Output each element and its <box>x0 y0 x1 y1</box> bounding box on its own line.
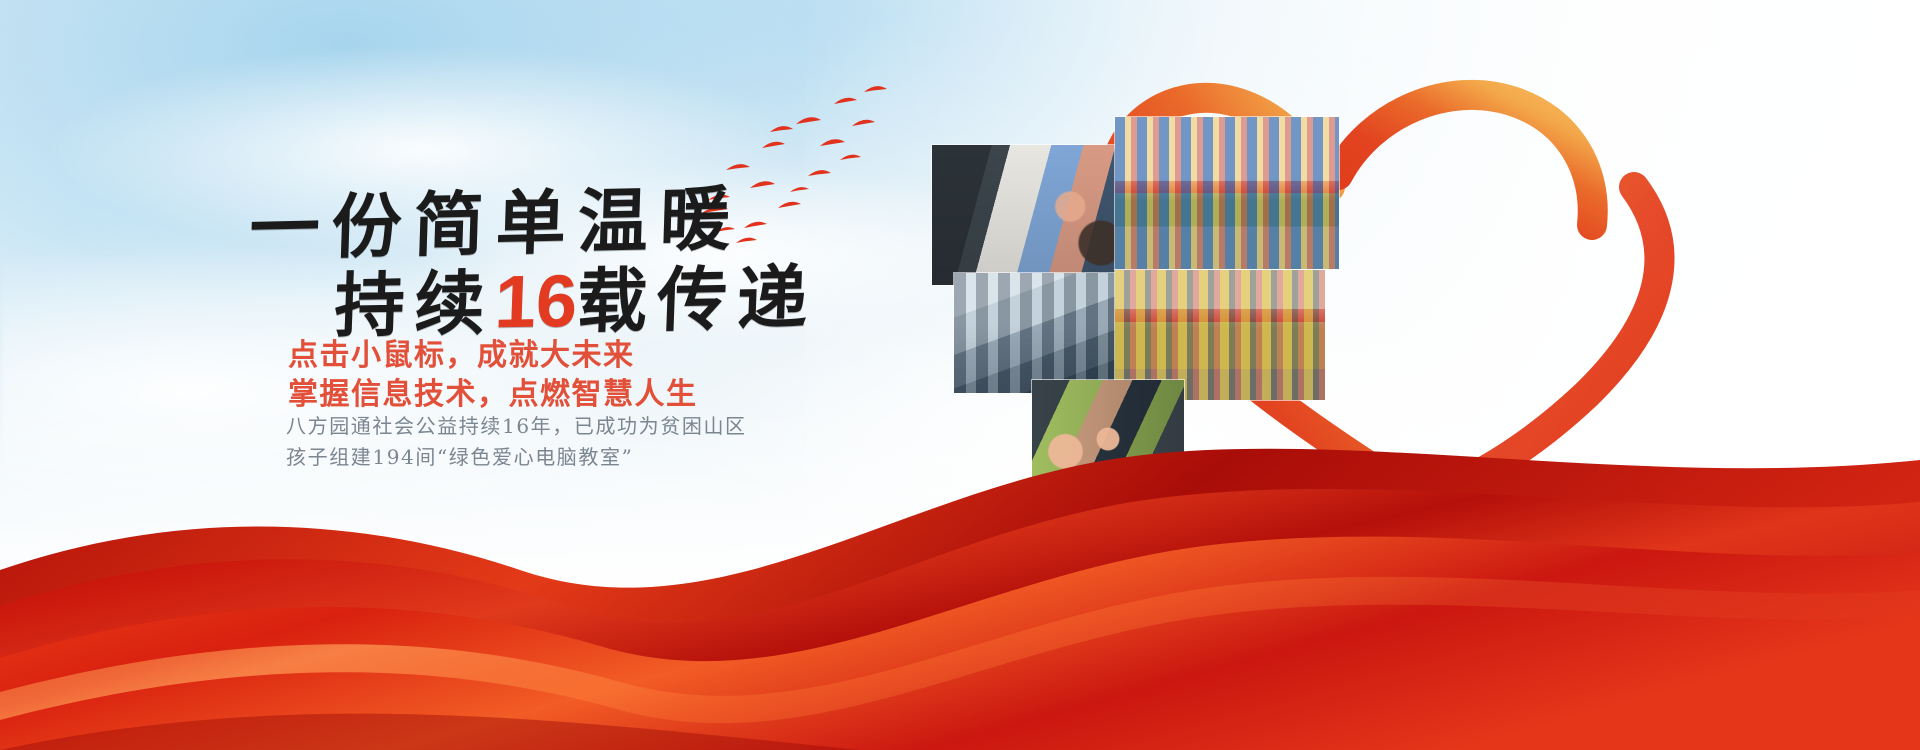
subtitle-line-2: 掌握信息技术，点燃智慧人生 <box>288 369 698 413</box>
subtitle-line-1: 点击小鼠标，成就大未来 <box>288 330 635 374</box>
photo-computer-classroom-wide <box>954 273 1136 393</box>
red-silk-ribbon <box>0 420 1920 750</box>
photo-donation-ceremony-group-1 <box>1115 117 1339 269</box>
charity-banner: 一份简单温暖 持续16载传递 点击小鼠标，成就大未来 掌握信息技术，点燃智慧人生… <box>0 0 1920 750</box>
photo-computer-lab-students-row <box>932 145 1124 285</box>
